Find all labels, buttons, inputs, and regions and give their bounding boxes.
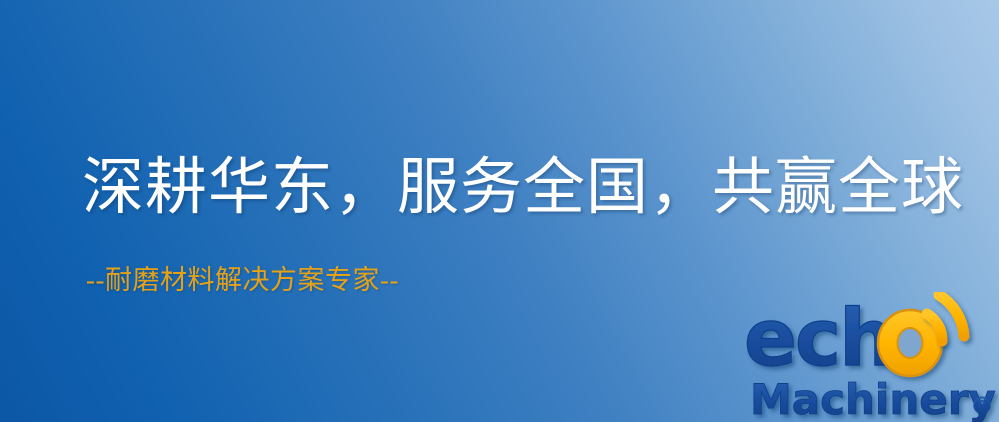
logo-wordmark-ech: ech: [744, 294, 893, 384]
logo-wordmark-machinery: Machinery ®: [750, 375, 996, 422]
banner-subtitle: --耐磨材料解决方案专家--: [86, 264, 399, 296]
logo-letter-o-counter: [898, 328, 923, 358]
banner-headline: 深耕华东，服务全国，共赢全球: [82, 152, 952, 224]
promotional-banner: 深耕华东，服务全国，共赢全球 --耐磨材料解决方案专家--: [0, 0, 999, 422]
logo-trademark-symbol: ®: [970, 392, 994, 420]
logo-text-ech: ech: [744, 294, 893, 384]
logo-text-machinery: Machinery: [750, 375, 996, 422]
echo-machinery-logo[interactable]: ech Machinery ®: [742, 292, 999, 422]
